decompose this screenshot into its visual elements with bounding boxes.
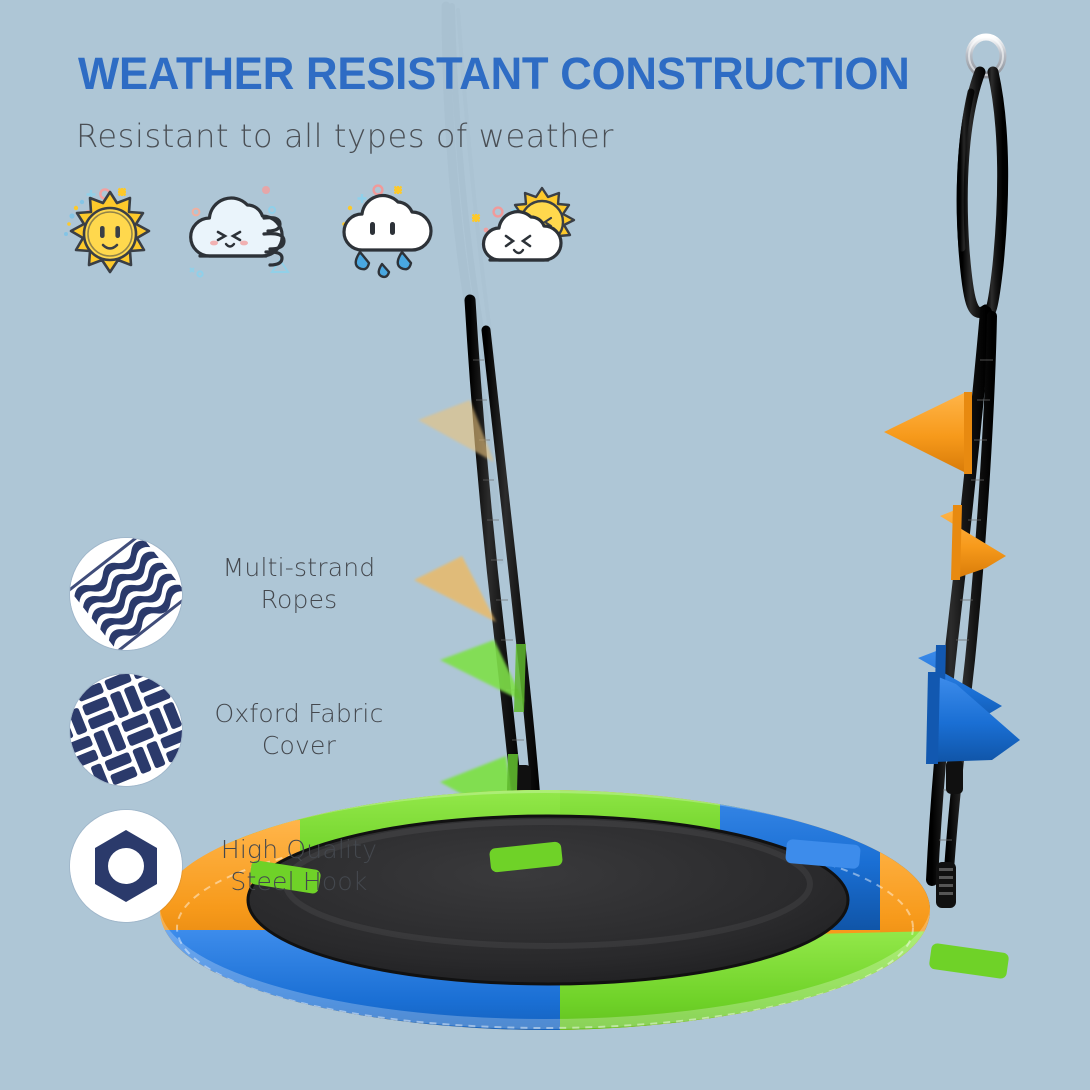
sunny-icon xyxy=(52,172,172,287)
rain-cloud-icon xyxy=(330,172,450,287)
steel-hook-ring xyxy=(969,37,1003,75)
feature-label-fabric: Oxford Fabric Cover xyxy=(190,698,408,761)
feature-list: Multi-strand Ropes xyxy=(70,538,410,946)
hex-nut-icon xyxy=(70,810,182,922)
braided-rope-icon xyxy=(70,538,182,650)
pennant-flags-right xyxy=(884,392,1020,764)
feature-label-hook: High Quality Steel Hook xyxy=(190,834,408,897)
woven-fabric-icon xyxy=(70,674,182,786)
feature-item-hook: High Quality Steel Hook xyxy=(70,810,410,946)
weather-icon-row xyxy=(52,172,572,292)
feature-item-fabric: Oxford Fabric Cover xyxy=(70,674,410,810)
feature-item-ropes: Multi-strand Ropes xyxy=(70,538,410,674)
page-title: WEATHER RESISTANT CONSTRUCTION xyxy=(78,48,910,100)
pennant-flags-left xyxy=(414,400,526,828)
feature-label-ropes: Multi-strand Ropes xyxy=(190,552,408,615)
windy-cloud-icon xyxy=(184,172,304,287)
cloudy-sun-icon xyxy=(462,172,582,287)
infographic-canvas: WEATHER RESISTANT CONSTRUCTION Resistant… xyxy=(0,0,1090,1090)
page-subtitle: Resistant to all types of weather xyxy=(76,117,614,155)
